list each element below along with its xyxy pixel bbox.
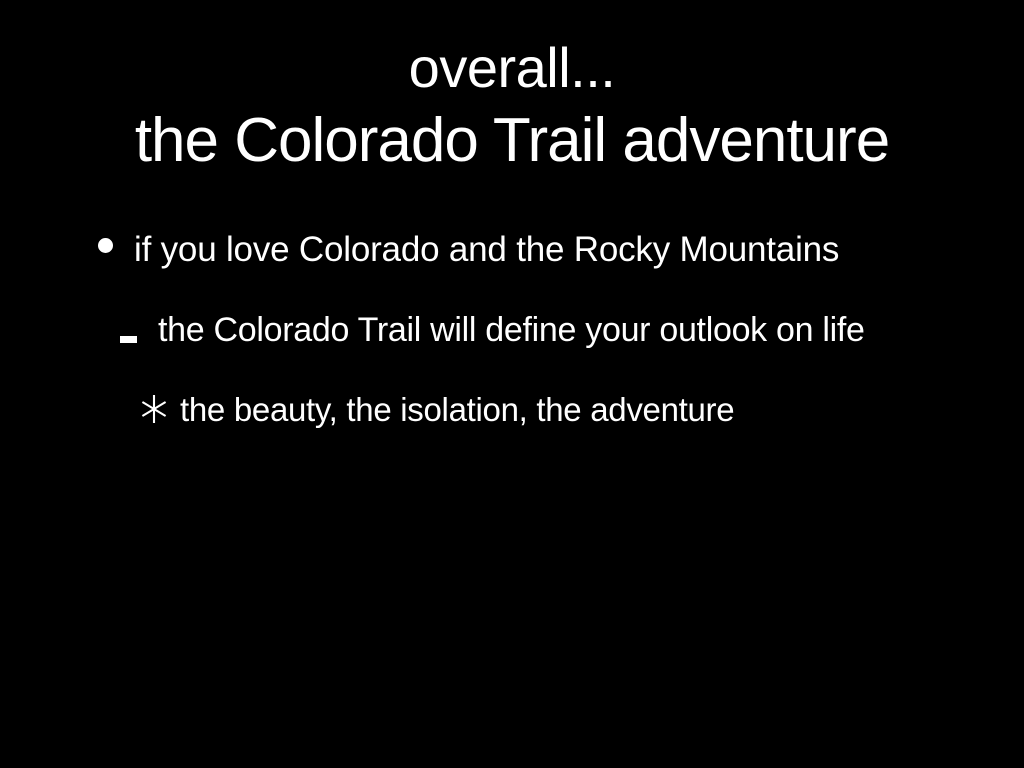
asterisk-bullet-icon bbox=[140, 392, 168, 426]
bullet-text-level-1: if you love Colorado and the Rocky Mount… bbox=[134, 210, 839, 290]
bullet-item-level-3: the beauty, the isolation, the adventure bbox=[0, 370, 1024, 450]
bullet-text-level-2: the Colorado Trail will define your outl… bbox=[158, 290, 865, 370]
bullet-text-level-3: the beauty, the isolation, the adventure bbox=[180, 370, 734, 450]
filled-circle-bullet-icon bbox=[98, 238, 113, 253]
title-line-1: overall... bbox=[0, 32, 1024, 104]
bullet-item-level-1: if you love Colorado and the Rocky Mount… bbox=[0, 210, 1024, 290]
dash-bullet-icon bbox=[120, 336, 137, 343]
presentation-slide: overall... the Colorado Trail adventure … bbox=[0, 0, 1024, 768]
slide-title: overall... the Colorado Trail adventure bbox=[0, 32, 1024, 178]
title-line-2: the Colorado Trail adventure bbox=[0, 104, 1024, 178]
bullet-list: if you love Colorado and the Rocky Mount… bbox=[0, 210, 1024, 450]
bullet-item-level-2: the Colorado Trail will define your outl… bbox=[0, 290, 1024, 370]
